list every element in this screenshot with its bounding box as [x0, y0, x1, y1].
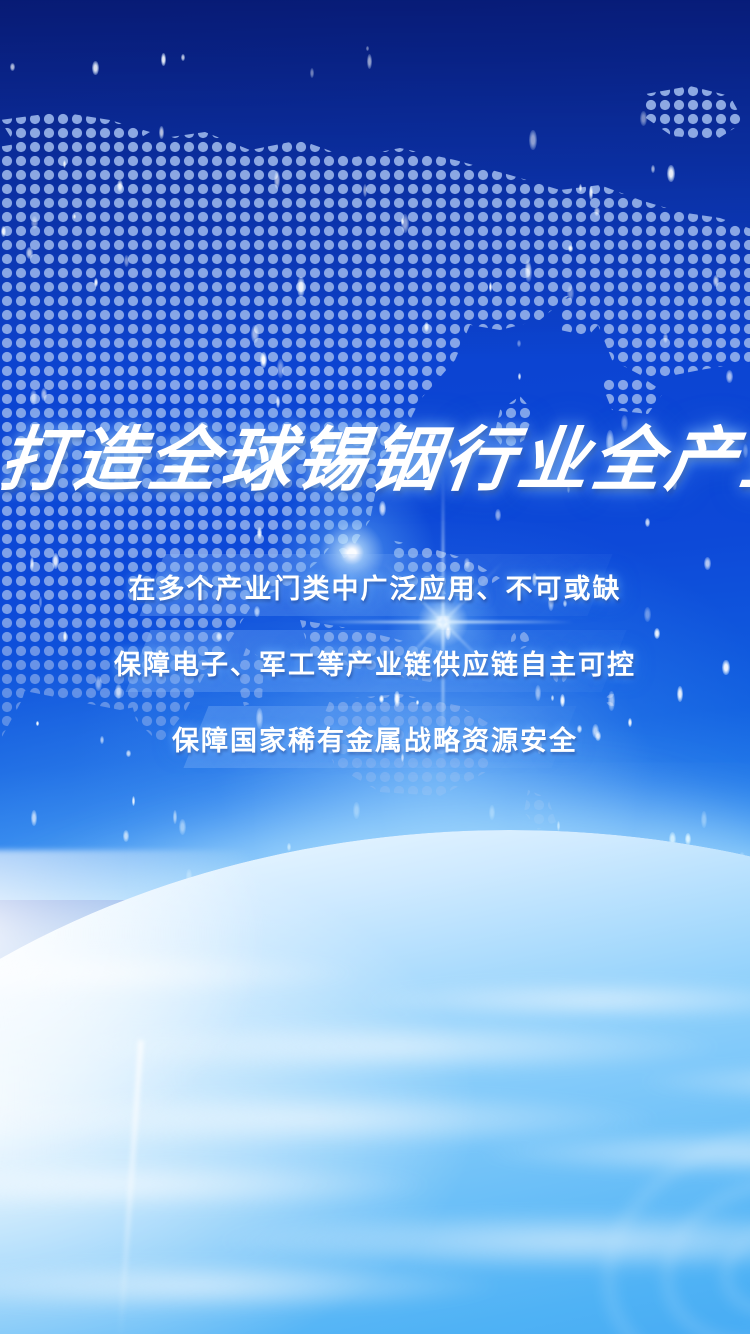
- bullet-text: 在多个产业门类中广泛应用、不可或缺: [129, 567, 622, 606]
- sun-glare: [0, 850, 550, 1334]
- poster-canvas: 打造全球锡铟行业全产业链链主 在多个产业门类中广泛应用、不可或缺 保障电子、军工…: [0, 0, 750, 1334]
- bullet-row: 保障电子、军工等产业链供应链自主可控: [0, 624, 750, 700]
- bullet-text: 保障电子、军工等产业链供应链自主可控: [114, 643, 636, 682]
- bullet-list: 在多个产业门类中广泛应用、不可或缺 保障电子、军工等产业链供应链自主可控 保障国…: [0, 548, 750, 776]
- bullet-row: 在多个产业门类中广泛应用、不可或缺: [0, 548, 750, 624]
- bullet-text: 保障国家稀有金属战略资源安全: [172, 719, 578, 758]
- bullet-row: 保障国家稀有金属战略资源安全: [0, 700, 750, 776]
- page-title: 打造全球锡铟行业全产业链链主: [0, 420, 750, 504]
